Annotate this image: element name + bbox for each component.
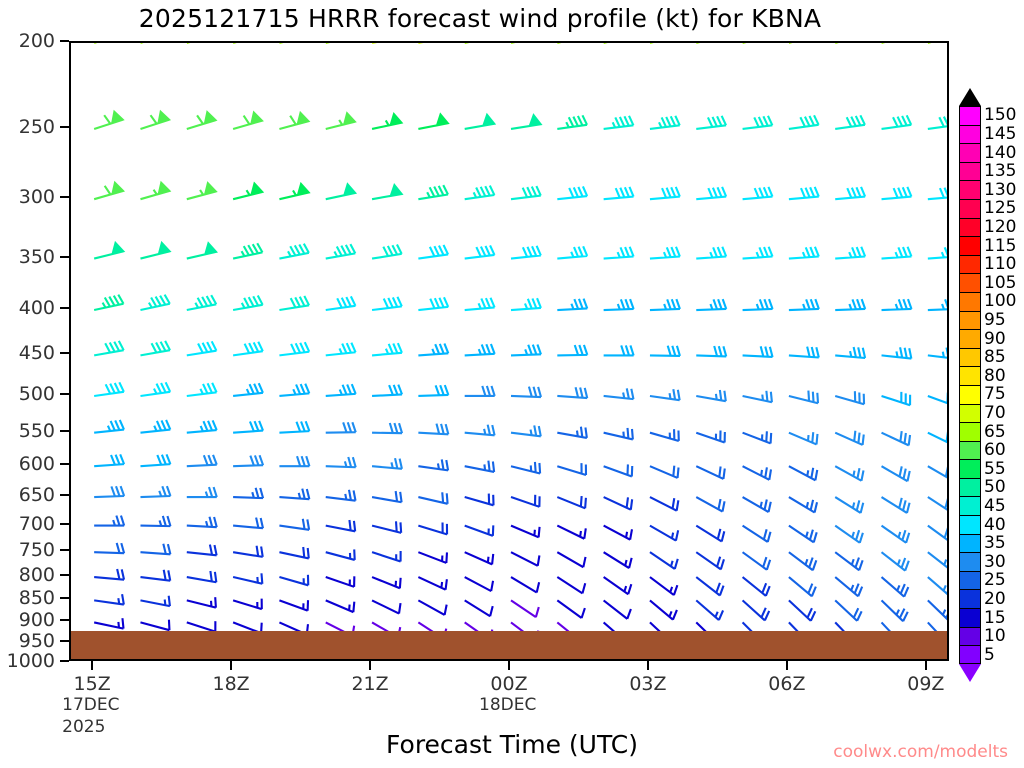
wind-barb [418,456,449,470]
y-axis-tick-label: 500 [19,383,55,405]
wind-barb [557,488,589,509]
wind-barb [418,385,448,396]
wind-barb [743,517,774,542]
wind-barb [556,186,587,199]
wind-barb [557,517,588,539]
colorbar-tick-label: 30 [984,552,1006,572]
wind-barb [557,345,587,356]
wind-barb [789,593,818,621]
wind-barb [928,593,949,621]
wind-barb [94,516,124,526]
wind-barb [835,299,865,310]
wind-barb [696,299,726,310]
colorbar-cell [959,441,981,460]
wind-barb [835,544,865,570]
y-axis-tick-mark [60,619,69,621]
wind-barb [743,488,774,512]
colorbar-cell [959,236,981,255]
wind-barb [696,457,727,479]
wind-barb [835,247,866,259]
colorbar-cell [959,329,981,348]
wind-barb [140,486,170,497]
wind-barb [835,517,865,542]
wind-barb [418,543,450,563]
colorbar-tick-label: 130 [984,180,1016,200]
wind-barb [834,115,865,129]
wind-barb [187,542,218,555]
wind-barb [465,543,496,564]
wind-barb [742,247,773,259]
wind-barb [788,115,819,129]
wind-barb [277,183,308,199]
colorbar-tick-label: 55 [984,459,1006,479]
wind-barb [557,298,587,310]
wind-barb [649,187,680,200]
y-axis-tick-label: 1000 [7,650,55,672]
wind-barb [511,488,543,507]
wind-barb [230,111,262,129]
wind-barb [372,423,402,434]
colorbar-tick-label: 15 [984,608,1006,628]
wind-barb [882,458,913,482]
colorbar-cell [959,106,981,125]
wind-barb [92,242,124,259]
wind-barb [372,659,399,661]
wind-barb [789,345,820,357]
wind-barb [279,487,310,499]
colorbar-cell [959,608,981,627]
wind-barb [465,487,497,505]
wind-barb [650,517,681,541]
wind-barb [93,454,124,466]
wind-barb [788,187,819,200]
colorbar-cell [959,589,981,608]
colorbar-cell [959,292,981,311]
colorbar-top-cap-icon [959,88,981,106]
wind-barb [928,544,949,570]
y-axis-tick-mark [60,393,69,395]
terrain-band [71,631,947,659]
wind-barb [324,244,355,259]
wind-barb [140,613,172,630]
colorbar-tick-label: 40 [984,515,1006,535]
wind-barb [789,457,820,480]
wind-barb [743,345,773,357]
colorbar-cell [959,366,981,385]
wind-barb [696,593,725,620]
y-axis-tick-label: 800 [19,564,55,586]
y-axis-tick-mark [60,494,69,496]
wind-barb [372,456,403,469]
wind-barb [835,489,866,513]
wind-barb [557,544,588,568]
x-axis-tick-mark [369,661,371,670]
wind-barb [279,516,310,530]
wind-barb [279,383,310,396]
wind-barb [696,247,727,259]
wind-barb [464,297,495,310]
wind-barb [417,185,448,200]
wind-barb [370,184,401,199]
wind-barb [928,458,949,482]
wind-barb [233,567,264,583]
colorbar-tick-label: 70 [984,403,1006,423]
x-axis-tick-label: 21Z [351,673,388,695]
wind-barb [138,294,169,310]
wind-barb [372,384,402,396]
y-axis-tick-mark [60,597,69,599]
x-axis-tick-mark [508,661,510,670]
wind-barb [465,423,496,436]
wind-barb [185,294,216,310]
wind-barb [326,543,358,560]
y-axis-tick-mark [60,126,69,128]
wind-barb [279,421,309,433]
colorbar-cell [959,645,981,664]
wind-barb [326,568,358,587]
wind-barb [463,114,494,129]
wind-barb [604,488,635,510]
wind-barb [696,544,726,569]
wind-barb [604,423,635,439]
wind-barb [418,659,445,661]
wind-barb [187,516,217,528]
wind-barb [417,245,448,259]
colorbar-cell [959,627,981,646]
wind-barb [140,567,171,581]
x-axis-tick-label: 18Z [212,673,249,695]
colorbar-cell [959,255,981,274]
colorbar-cell [959,162,981,181]
wind-barb [232,421,263,433]
wind-barb [278,295,309,310]
colorbar-tick-label: 20 [984,589,1006,609]
wind-barb [465,659,491,661]
wind-barb [186,455,216,467]
wind-barb [233,542,264,557]
y-axis-tick-mark [60,430,69,432]
wind-barb [604,569,634,594]
wind-barb [94,542,124,553]
x-axis-tick-mark [230,661,232,670]
colorbar-tick-label: 90 [984,329,1006,349]
wind-barb [926,115,949,129]
wind-barb [278,243,309,259]
y-axis-tick-label: 450 [19,342,55,364]
wind-barb [835,569,864,596]
wind-barb [882,593,911,621]
wind-barb [231,295,262,310]
wind-barb [233,516,264,529]
wind-barb [743,593,772,621]
x-axis-tick-label: 09Z [907,673,944,695]
wind-barb [139,340,170,355]
wind-barb [187,591,219,608]
wind-barb [372,568,404,589]
wind-barb [557,423,588,438]
colorbar-tick-label: 35 [984,533,1006,553]
wind-barb [881,299,911,310]
x-axis-tick-label: 03Z [629,673,666,695]
wind-barb [834,187,865,200]
wind-barb [510,298,541,310]
wind-barb [465,386,495,396]
wind-barb [510,245,541,258]
wind-barb [881,247,912,259]
colorbar-cells [959,106,981,664]
wind-barb [882,386,914,405]
colorbar-tick-label: 150 [984,105,1016,125]
y-axis-tick-mark [60,640,69,642]
wind-barb [186,382,217,396]
colorbar-tick-label: 10 [984,626,1006,646]
colorbar-bottom-cap-icon [959,664,981,682]
wind-barb [650,544,680,569]
wind-barb [696,345,726,356]
wind-barb [835,424,866,445]
wind-barb [370,113,401,129]
wind-barb [604,457,636,477]
wind-barb [465,456,496,472]
wind-barb [279,591,311,611]
wind-barb [372,487,403,502]
y-axis-tick-mark [60,660,69,662]
colorbar: 1501451401351301251201151101051009590858… [959,88,1024,648]
wind-barb [94,613,125,629]
colorbar-tick-label: 120 [984,217,1016,237]
wind-barb [602,115,633,129]
wind-barb [928,387,949,407]
colorbar-cell [959,125,981,144]
colorbar-cell [959,515,981,534]
wind-barb [928,569,949,596]
wind-barb-field [71,43,947,659]
watermark: coolwx.com/modelts [833,742,1008,762]
wind-barb [93,420,124,433]
wind-barb [695,115,726,129]
wind-barb [743,544,773,570]
wind-barb [326,516,357,532]
wind-barb [463,185,494,199]
wind-barb [835,593,864,621]
wind-barb [511,386,541,397]
wind-barb [138,242,170,259]
wind-barb [650,569,680,595]
y-axis-tick-label: 550 [19,420,55,442]
y-axis-tick-label: 250 [19,116,55,138]
colorbar-cell [959,143,981,162]
wind-barb [323,112,355,129]
wind-barb [557,386,588,398]
wind-barb [279,456,309,466]
wind-barb [185,341,216,356]
colorbar-cell [959,571,981,590]
wind-barb [279,567,311,585]
colorbar-cell [959,218,981,237]
wind-barb [186,420,217,433]
wind-barb [139,420,170,433]
wind-barb [927,187,949,200]
wind-barb [184,111,216,129]
wind-barb [556,246,587,259]
colorbar-cell [959,478,981,497]
wind-barb [650,457,682,478]
colorbar-cell [959,534,981,553]
wind-barb [880,115,911,129]
wind-barb [650,345,680,356]
colorbar-cell [959,180,981,199]
wind-barb [835,457,866,480]
wind-barb [650,299,680,310]
wind-barb [510,186,541,200]
wind-barb [326,591,358,612]
colorbar-tick-label: 140 [984,143,1016,163]
wind-barb [371,296,402,310]
wind-barb [882,345,913,358]
colorbar-cell [959,496,981,515]
wind-barb [788,247,819,259]
plot-area [69,41,949,661]
y-axis-tick-label: 600 [19,453,55,475]
colorbar-cell [959,311,981,330]
wind-barb [233,591,265,609]
colorbar-tick-label: 85 [984,347,1006,367]
wind-barb [511,344,541,355]
wind-barb [231,243,262,259]
wind-barb [742,299,772,310]
colorbar-cell [959,422,981,441]
wind-barb [696,386,727,401]
wind-barb [743,457,774,480]
wind-barb [511,592,541,617]
wind-barb [418,343,449,355]
wind-barb [882,544,912,570]
colorbar-tick-label: 125 [984,198,1016,218]
wind-barb [326,487,357,501]
wind-barb [418,423,448,435]
wind-barb [372,516,404,533]
x-axis-tick-label: 15Z [74,673,111,695]
wind-barb [416,113,447,129]
wind-barb [650,386,681,400]
wind-barb [789,569,818,596]
y-axis-tick-label: 650 [19,484,55,506]
x-axis-tick-label: 06Z [768,673,805,695]
wind-barb [326,456,356,467]
wind-barb [604,386,635,399]
colorbar-tick-label: 60 [984,440,1006,460]
wind-barb [789,386,821,403]
colorbar-tick-label: 75 [984,384,1006,404]
wind-barb [187,613,219,632]
wind-barb [789,517,819,542]
colorbar-cell [959,199,981,218]
wind-barb [743,386,774,402]
y-axis-tick-mark [60,523,69,525]
x-axis-tick-label: 00Z [490,673,527,695]
wind-barb [372,543,404,562]
y-axis-tick-mark [60,463,69,465]
wind-barb [927,247,949,259]
wind-barb [231,182,263,199]
wind-barb [603,299,633,310]
wind-barb [326,422,356,433]
y-axis-tick-label: 850 [19,587,55,609]
wind-barb [91,110,123,129]
wind-barb [94,590,125,604]
wind-barb [509,114,540,129]
wind-barb [604,345,634,355]
wind-barb [371,343,402,356]
wind-barb [372,591,403,613]
wind-barb [418,487,449,503]
wind-barb [789,299,819,310]
x-axis-date-label: 17DEC [62,695,119,715]
wind-barb [232,383,263,396]
chart-title: 2025121715 HRRR forecast wind profile (k… [0,4,960,33]
wind-barb [325,384,356,396]
colorbar-cell [959,459,981,478]
colorbar-cell [959,273,981,292]
wind-barb [463,245,494,259]
wind-barb [882,517,912,542]
wind-barb [882,424,913,446]
y-axis-tick-mark [60,549,69,551]
wind-barb [649,115,680,129]
wind-barb [743,423,775,443]
wind-barb [91,181,123,199]
wind-barb [696,423,728,442]
wind-barb [603,187,634,200]
chart-root: 2025121715 HRRR forecast wind profile (k… [0,0,1024,768]
wind-barb [649,247,680,259]
wind-barb [742,187,773,200]
colorbar-cell [959,385,981,404]
y-axis-tick-label: 700 [19,513,55,535]
wind-barb [741,115,772,129]
colorbar-tick-label: 80 [984,366,1006,386]
wind-barb [650,488,681,511]
y-axis-tick-label: 950 [19,630,55,652]
wind-barb [417,297,448,310]
wind-barb [418,568,449,590]
wind-barb [279,542,310,558]
wind-barb [92,294,123,310]
wind-barb [138,181,170,199]
y-axis-tick-mark [60,307,69,309]
wind-barb [928,518,949,544]
wind-barb [418,592,449,615]
wind-barb [233,455,263,466]
wind-barb [184,182,216,199]
wind-barb [92,340,123,355]
y-axis-tick-mark [60,352,69,354]
wind-barb [511,423,542,437]
y-axis-tick-label: 400 [19,297,55,319]
wind-barb [232,341,263,355]
wind-barb [511,516,543,537]
wind-barb [139,382,170,396]
wind-barb [140,454,171,466]
wind-barb [140,591,171,607]
y-axis-tick-label: 300 [19,186,55,208]
x-axis-tick-mark [925,661,927,670]
wind-barb [557,569,588,594]
wind-barb [650,593,679,620]
wind-barb [696,488,727,511]
wind-barb [604,517,635,540]
wind-barb [928,424,949,446]
